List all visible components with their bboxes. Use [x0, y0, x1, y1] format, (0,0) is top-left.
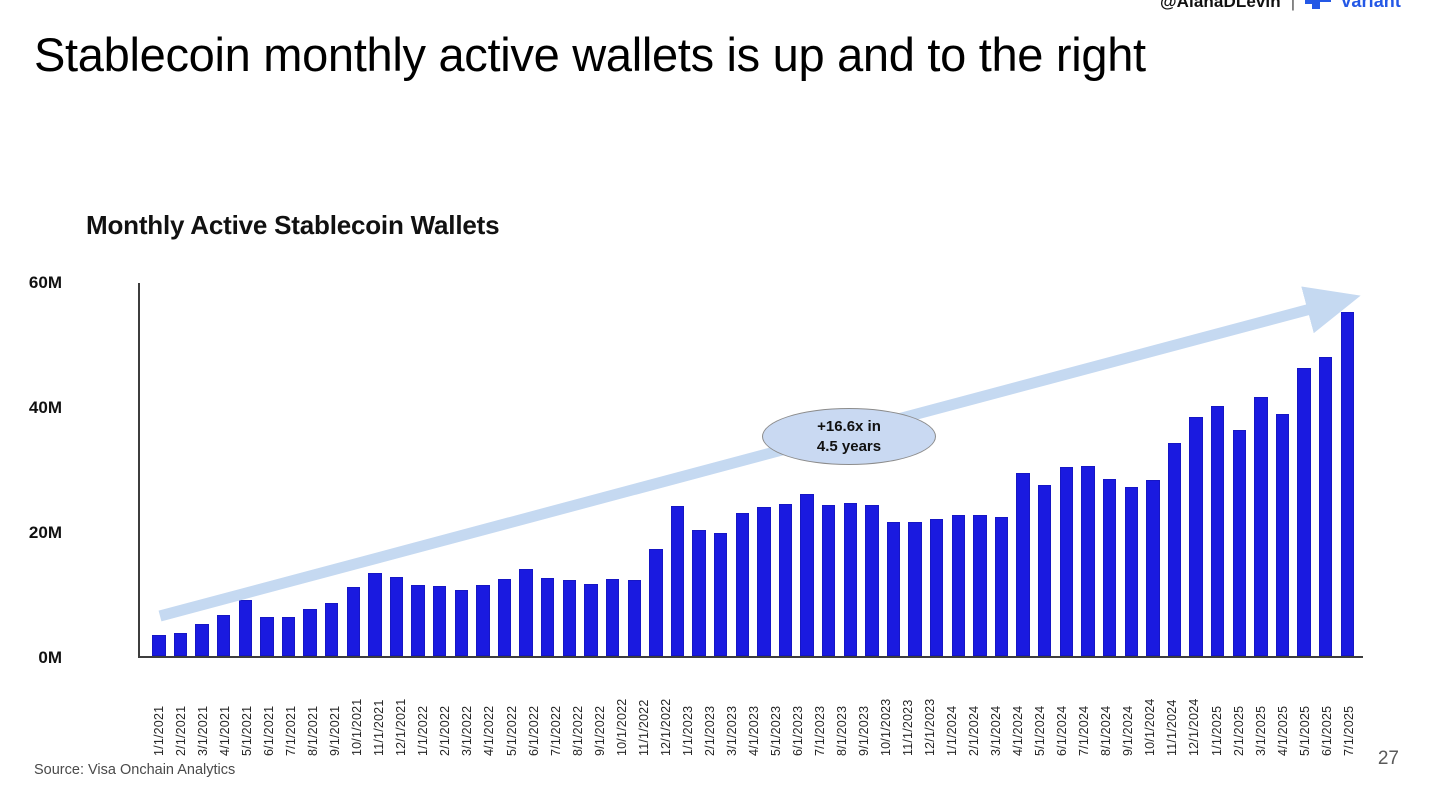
bar-column: [580, 283, 602, 656]
x-tick-wrap: 4/1/2025: [1272, 664, 1294, 756]
x-tick-wrap: 5/1/2025: [1294, 664, 1316, 756]
x-tick-label: 9/1/2021: [328, 664, 342, 756]
x-tick-wrap: 1/1/2025: [1206, 664, 1228, 756]
bar: [433, 586, 446, 656]
bar: [1297, 368, 1310, 656]
x-tick-wrap: 3/1/2021: [192, 664, 214, 756]
x-tick-wrap: 9/1/2022: [589, 664, 611, 756]
x-tick-wrap: 6/1/2022: [523, 664, 545, 756]
x-tick-label: 8/1/2023: [835, 664, 849, 756]
bar: [671, 506, 684, 656]
x-tick-label: 5/1/2023: [769, 664, 783, 756]
bar: [800, 494, 813, 657]
x-tick-label: 5/1/2025: [1298, 664, 1312, 756]
x-tick-label: 2/1/2023: [703, 664, 717, 756]
x-tick-wrap: 2/1/2021: [170, 664, 192, 756]
x-tick-wrap: 4/1/2022: [478, 664, 500, 756]
x-tick-label: 10/1/2023: [879, 664, 893, 756]
bar: [260, 617, 273, 656]
x-tick-wrap: 10/1/2024: [1139, 664, 1161, 756]
x-tick-wrap: 2/1/2022: [434, 664, 456, 756]
bar: [1146, 480, 1159, 656]
x-tick-wrap: 3/1/2022: [456, 664, 478, 756]
bar: [779, 504, 792, 656]
bar-column: [948, 283, 970, 656]
bar: [563, 580, 576, 656]
bar-column: [472, 283, 494, 656]
bar-column: [883, 283, 905, 656]
callout-line-1: +16.6x in: [817, 417, 881, 436]
bar: [822, 505, 835, 656]
bar-column: [796, 283, 818, 656]
bar-column: [1164, 283, 1186, 656]
bar-column: [623, 283, 645, 656]
x-tick-label: 11/1/2024: [1165, 664, 1179, 756]
x-tick-label: 4/1/2024: [1011, 664, 1025, 756]
y-tick-label: 20M: [29, 523, 62, 543]
x-tick-wrap: 6/1/2024: [1051, 664, 1073, 756]
bar-column: [537, 283, 559, 656]
bar: [995, 517, 1008, 656]
bar: [973, 515, 986, 656]
bar-column: [667, 283, 689, 656]
x-tick-label: 4/1/2022: [482, 664, 496, 756]
bar-column: [753, 283, 775, 656]
x-tick-label: 3/1/2021: [196, 664, 210, 756]
x-tick-label: 9/1/2023: [857, 664, 871, 756]
x-tick-wrap: 8/1/2023: [831, 664, 853, 756]
x-tick-label: 5/1/2021: [240, 664, 254, 756]
x-tick-wrap: 2/1/2023: [699, 664, 721, 756]
x-tick-wrap: 4/1/2021: [214, 664, 236, 756]
bar-column: [299, 283, 321, 656]
bar: [390, 577, 403, 656]
x-tick-wrap: 3/1/2024: [985, 664, 1007, 756]
x-tick-wrap: 1/1/2024: [941, 664, 963, 756]
x-tick-wrap: 1/1/2021: [148, 664, 170, 756]
x-tick-wrap: 1/1/2022: [412, 664, 434, 756]
callout-line-2: 4.5 years: [817, 437, 881, 456]
growth-callout-bubble: +16.6x in 4.5 years: [762, 408, 936, 465]
x-tick-wrap: 1/1/2023: [677, 664, 699, 756]
bar: [1276, 414, 1289, 657]
bar-column: [818, 283, 840, 656]
bar: [887, 522, 900, 656]
bar-column: [321, 283, 343, 656]
bar: [1081, 466, 1094, 656]
bar-column: [1077, 283, 1099, 656]
x-tick-label: 11/1/2022: [637, 664, 651, 756]
x-tick-wrap: 10/1/2022: [611, 664, 633, 756]
bar-column: [688, 283, 710, 656]
bar-column: [861, 283, 883, 656]
x-tick-wrap: 8/1/2021: [302, 664, 324, 756]
bar-series: [140, 283, 1363, 656]
bar-column: [775, 283, 797, 656]
x-tick-label: 4/1/2021: [218, 664, 232, 756]
bar: [195, 624, 208, 657]
chart-plot-area: [138, 283, 1363, 658]
bar: [908, 522, 921, 656]
bar: [282, 617, 295, 656]
x-tick-wrap: 11/1/2022: [633, 664, 655, 756]
bar: [347, 587, 360, 656]
bar-column: [1293, 283, 1315, 656]
bar: [736, 513, 749, 656]
bar-column: [278, 283, 300, 656]
bar: [584, 584, 597, 657]
bar: [152, 635, 165, 656]
x-tick-wrap: 2/1/2024: [963, 664, 985, 756]
x-tick-label: 1/1/2023: [681, 664, 695, 756]
bar: [1211, 406, 1224, 656]
bar-column: [429, 283, 451, 656]
x-tick-wrap: 9/1/2024: [1117, 664, 1139, 756]
x-tick-wrap: 12/1/2022: [655, 664, 677, 756]
bar: [303, 609, 316, 657]
x-tick-label: 1/1/2021: [152, 664, 166, 756]
x-tick-label: 9/1/2024: [1121, 664, 1135, 756]
bar-column: [1250, 283, 1272, 656]
x-tick-label: 4/1/2023: [747, 664, 761, 756]
x-axis-labels: 1/1/20212/1/20213/1/20214/1/20215/1/2021…: [140, 664, 1365, 756]
x-tick-label: 3/1/2024: [989, 664, 1003, 756]
bar-column: [191, 283, 213, 656]
x-tick-wrap: 8/1/2024: [1095, 664, 1117, 756]
bar: [1341, 312, 1354, 656]
x-tick-label: 9/1/2022: [593, 664, 607, 756]
bar: [1103, 479, 1116, 656]
bar: [411, 585, 424, 656]
bar-column: [731, 283, 753, 656]
x-tick-wrap: 10/1/2023: [875, 664, 897, 756]
x-tick-wrap: 9/1/2023: [853, 664, 875, 756]
x-tick-label: 10/1/2022: [615, 664, 629, 756]
bar-column: [234, 283, 256, 656]
bar: [541, 578, 554, 656]
x-tick-label: 1/1/2022: [416, 664, 430, 756]
x-tick-wrap: 11/1/2024: [1161, 664, 1183, 756]
bar-column: [1228, 283, 1250, 656]
x-tick-label: 8/1/2021: [306, 664, 320, 756]
x-axis-line: [138, 656, 1363, 658]
x-tick-wrap: 5/1/2024: [1029, 664, 1051, 756]
x-tick-label: 5/1/2022: [505, 664, 519, 756]
x-tick-wrap: 5/1/2022: [501, 664, 523, 756]
variant-logo-icon: [1305, 0, 1331, 10]
bar: [1125, 487, 1138, 656]
bar-column: [991, 283, 1013, 656]
bar-column: [213, 283, 235, 656]
y-tick-label: 0M: [38, 648, 62, 668]
x-tick-wrap: 6/1/2021: [258, 664, 280, 756]
y-axis-labels: 0M20M40M60M: [0, 283, 130, 658]
bar-column: [386, 283, 408, 656]
x-tick-label: 3/1/2023: [725, 664, 739, 756]
x-tick-wrap: 12/1/2023: [919, 664, 941, 756]
x-tick-wrap: 7/1/2024: [1073, 664, 1095, 756]
y-tick-label: 60M: [29, 273, 62, 293]
bar-column: [1337, 283, 1359, 656]
x-tick-label: 10/1/2024: [1143, 664, 1157, 756]
bar-column: [1012, 283, 1034, 656]
x-tick-label: 7/1/2024: [1077, 664, 1091, 756]
bar-column: [1207, 283, 1229, 656]
x-tick-wrap: 12/1/2021: [390, 664, 412, 756]
bar-column: [559, 283, 581, 656]
x-tick-wrap: 7/1/2023: [809, 664, 831, 756]
x-tick-wrap: 7/1/2021: [280, 664, 302, 756]
x-tick-label: 6/1/2021: [262, 664, 276, 756]
slide-headline: Stablecoin monthly active wallets is up …: [34, 22, 1304, 89]
bar: [1168, 443, 1181, 656]
bar: [368, 573, 381, 656]
x-tick-label: 8/1/2022: [571, 664, 585, 756]
x-tick-label: 7/1/2025: [1342, 664, 1356, 756]
bar: [1233, 430, 1246, 656]
x-tick-wrap: 3/1/2023: [721, 664, 743, 756]
bar-column: [710, 283, 732, 656]
x-tick-wrap: 12/1/2024: [1183, 664, 1205, 756]
x-tick-wrap: 4/1/2023: [743, 664, 765, 756]
x-tick-wrap: 5/1/2023: [765, 664, 787, 756]
bar: [865, 505, 878, 656]
x-tick-label: 5/1/2024: [1033, 664, 1047, 756]
x-tick-wrap: 3/1/2025: [1250, 664, 1272, 756]
bar-column: [148, 283, 170, 656]
bar-column: [1185, 283, 1207, 656]
x-tick-wrap: 7/1/2025: [1338, 664, 1360, 756]
bar-column: [494, 283, 516, 656]
page-number: 27: [1378, 748, 1399, 770]
author-handle: @AlanaDLevin: [1160, 0, 1281, 12]
bar: [952, 515, 965, 656]
x-tick-label: 3/1/2022: [460, 664, 474, 756]
x-tick-wrap: 6/1/2025: [1316, 664, 1338, 756]
bar: [498, 579, 511, 656]
bar-column: [342, 283, 364, 656]
bar-column: [969, 283, 991, 656]
bar: [1319, 357, 1332, 656]
x-tick-label: 7/1/2021: [284, 664, 298, 756]
attribution-divider: |: [1291, 0, 1296, 12]
x-tick-label: 4/1/2025: [1276, 664, 1290, 756]
x-tick-label: 8/1/2024: [1099, 664, 1113, 756]
x-tick-label: 2/1/2025: [1232, 664, 1246, 756]
bar: [692, 530, 705, 656]
bar: [649, 549, 662, 656]
bar: [239, 600, 252, 656]
bar-column: [1142, 283, 1164, 656]
bar-column: [840, 283, 862, 656]
bar-column: [170, 283, 192, 656]
x-tick-label: 11/1/2023: [901, 664, 915, 756]
bar: [606, 579, 619, 657]
bar-column: [364, 283, 386, 656]
bar: [628, 580, 641, 656]
x-tick-wrap: 4/1/2024: [1007, 664, 1029, 756]
x-tick-wrap: 6/1/2023: [787, 664, 809, 756]
bar-column: [451, 283, 473, 656]
x-tick-label: 12/1/2024: [1187, 664, 1201, 756]
x-tick-label: 11/1/2021: [372, 664, 386, 756]
chart-title: Monthly Active Stablecoin Wallets: [86, 210, 499, 241]
x-tick-label: 6/1/2022: [527, 664, 541, 756]
x-tick-label: 12/1/2023: [923, 664, 937, 756]
bar-column: [1315, 283, 1337, 656]
bar: [325, 603, 338, 656]
bar-column: [904, 283, 926, 656]
x-tick-wrap: 9/1/2021: [324, 664, 346, 756]
brand-name: variant: [1341, 0, 1401, 12]
bar: [455, 590, 468, 656]
x-tick-label: 6/1/2024: [1055, 664, 1069, 756]
bar-column: [515, 283, 537, 656]
bar-column: [1272, 283, 1294, 656]
x-tick-label: 2/1/2021: [174, 664, 188, 756]
x-tick-wrap: 8/1/2022: [567, 664, 589, 756]
bar-column: [645, 283, 667, 656]
bar-column: [1034, 283, 1056, 656]
attribution-bar: @AlanaDLevin | variant: [1160, 0, 1401, 12]
x-tick-label: 10/1/2021: [350, 664, 364, 756]
bar: [714, 533, 727, 656]
x-tick-label: 2/1/2022: [438, 664, 452, 756]
y-tick-label: 40M: [29, 398, 62, 418]
x-tick-label: 1/1/2024: [945, 664, 959, 756]
bar-column: [1099, 283, 1121, 656]
bar: [1060, 467, 1073, 656]
x-tick-label: 6/1/2025: [1320, 664, 1334, 756]
x-tick-label: 12/1/2021: [394, 664, 408, 756]
bar-column: [407, 283, 429, 656]
bar: [1254, 397, 1267, 656]
bar: [1016, 473, 1029, 656]
bar: [519, 569, 532, 656]
x-tick-label: 2/1/2024: [967, 664, 981, 756]
bar-column: [1056, 283, 1078, 656]
bar: [844, 503, 857, 656]
bar: [1038, 485, 1051, 656]
x-tick-wrap: 11/1/2023: [897, 664, 919, 756]
x-tick-label: 7/1/2022: [549, 664, 563, 756]
bar-column: [926, 283, 948, 656]
bar: [174, 633, 187, 656]
x-tick-wrap: 5/1/2021: [236, 664, 258, 756]
x-tick-label: 7/1/2023: [813, 664, 827, 756]
bar: [476, 585, 489, 656]
x-tick-label: 6/1/2023: [791, 664, 805, 756]
bar: [757, 507, 770, 656]
x-tick-wrap: 2/1/2025: [1228, 664, 1250, 756]
bar: [217, 615, 230, 656]
x-tick-label: 1/1/2025: [1210, 664, 1224, 756]
x-tick-wrap: 7/1/2022: [545, 664, 567, 756]
source-note: Source: Visa Onchain Analytics: [34, 762, 235, 778]
bar: [1189, 417, 1202, 656]
bar-column: [602, 283, 624, 656]
x-tick-wrap: 10/1/2021: [346, 664, 368, 756]
x-tick-label: 3/1/2025: [1254, 664, 1268, 756]
x-tick-wrap: 11/1/2021: [368, 664, 390, 756]
x-tick-label: 12/1/2022: [659, 664, 673, 756]
bar-column: [256, 283, 278, 656]
bar-column: [1120, 283, 1142, 656]
bar: [930, 519, 943, 657]
